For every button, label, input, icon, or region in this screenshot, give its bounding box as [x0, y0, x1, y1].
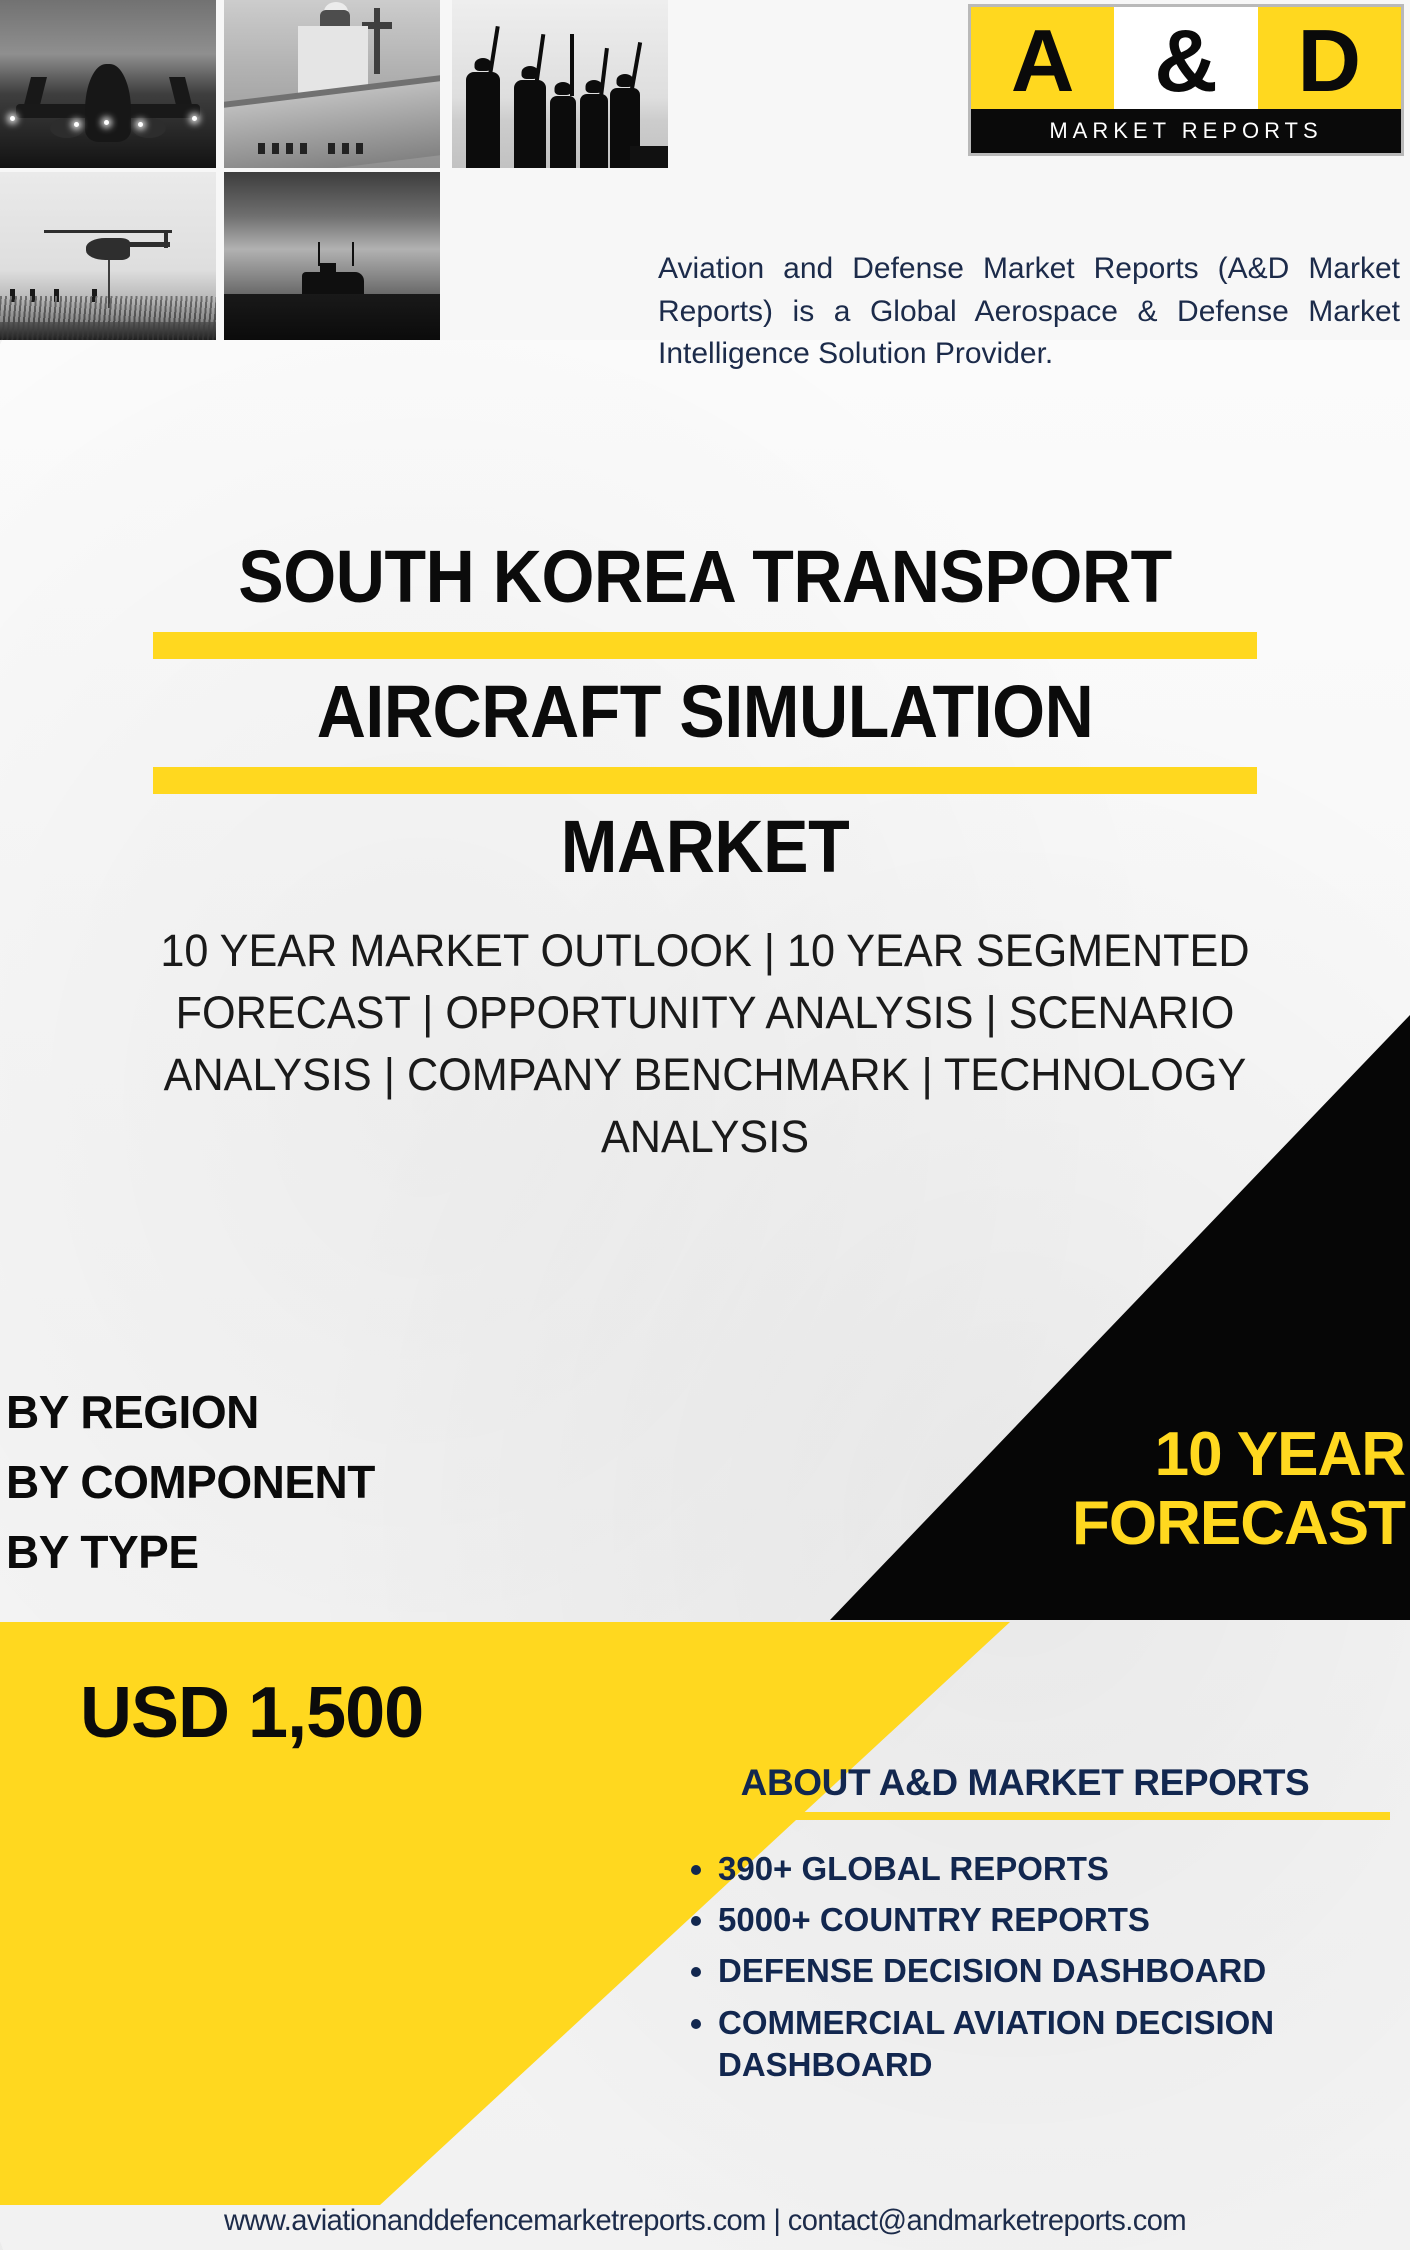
report-title-line-3: MARKET: [56, 810, 1353, 884]
forecast-badge: 10 YEAR FORECAST: [860, 1420, 1405, 1559]
header-photo-grid: [0, 0, 668, 340]
armored-vehicle-at-dusk-photo: [224, 172, 440, 340]
carrier-porthole: [258, 143, 265, 154]
logo-ampersand: &: [1114, 7, 1257, 115]
soldier-silhouette: [514, 80, 546, 168]
title-divider-bar-2: [153, 767, 1257, 794]
report-title-line-1: SOUTH KOREA TRANSPORT: [56, 540, 1353, 614]
deck-light: [74, 122, 79, 127]
title-divider-bar-1: [153, 632, 1257, 659]
jet-pod-left: [50, 118, 84, 138]
soldier-silhouette: [580, 94, 608, 168]
carrier-porthole: [300, 143, 307, 154]
carrier-porthole: [356, 143, 363, 154]
soldier-silhouette: [466, 72, 500, 168]
deck-light: [192, 116, 197, 121]
shoreline-rocks: [630, 146, 668, 168]
jet-pod-right: [132, 118, 166, 138]
aircraft-carrier-photo: [224, 0, 440, 168]
soldier-helmet: [555, 82, 572, 95]
vehicle-antenna: [352, 242, 354, 266]
field-grass: [0, 296, 216, 340]
segment-by-component: BY COMPONENT: [6, 1448, 626, 1518]
forecast-line-2: FORECAST: [860, 1489, 1405, 1558]
segment-by-type: BY TYPE: [6, 1518, 626, 1588]
price-label: USD 1,500: [80, 1672, 423, 1754]
jet-fuselage: [85, 64, 131, 142]
carrier-porthole: [328, 143, 335, 154]
logo-tagline: MARKET REPORTS: [971, 109, 1401, 153]
logo-letters: A & D: [971, 7, 1401, 115]
logo-letter-d: D: [1258, 7, 1401, 115]
about-heading-underline: [660, 1812, 1390, 1820]
carrier-porthole: [272, 143, 279, 154]
about-bullet-item: 5000+ COUNTRY REPORTS: [718, 1899, 1390, 1941]
about-bullet-item: 390+ GLOBAL REPORTS: [718, 1848, 1390, 1890]
deck-light: [138, 122, 143, 127]
report-title-block: SOUTH KOREA TRANSPORT AIRCRAFT SIMULATIO…: [0, 540, 1410, 884]
segmentation-list: BY REGION BY COMPONENT BY TYPE: [6, 1378, 626, 1588]
about-section: ABOUT A&D MARKET REPORTS 390+ GLOBAL REP…: [660, 1762, 1390, 2095]
about-bullet-list: 390+ GLOBAL REPORTS 5000+ COUNTRY REPORT…: [660, 1848, 1390, 2086]
soldier-rifle: [570, 34, 574, 96]
about-heading: ABOUT A&D MARKET REPORTS: [660, 1762, 1390, 1804]
poster-canvas: A & D MARKET REPORTS Aviation and Defens…: [0, 0, 1410, 2250]
soldier-rifle: [488, 26, 499, 74]
carrier-porthole: [286, 143, 293, 154]
about-bullet-item: DEFENSE DECISION DASHBOARD: [718, 1950, 1390, 1992]
company-intro-paragraph: Aviation and Defense Market Reports (A&D…: [658, 248, 1400, 376]
report-title-line-2: AIRCRAFT SIMULATION: [56, 675, 1353, 749]
deck-light: [10, 116, 15, 121]
fighter-jet-on-carrier-deck-photo: [0, 0, 216, 168]
helicopter-main-rotor: [44, 230, 172, 233]
soldier-rifle: [535, 34, 546, 82]
soldier-silhouette: [550, 96, 576, 168]
soldier-rifle: [630, 42, 642, 90]
forecast-line-1: 10 YEAR: [860, 1420, 1405, 1489]
helicopter-tail-fin: [164, 230, 168, 248]
footer-contact[interactable]: www.aviationanddefencemarketreports.com …: [21, 2204, 1389, 2238]
deck-light: [104, 120, 109, 125]
soldier-rifle: [599, 48, 609, 96]
carrier-mast: [374, 8, 380, 74]
carrier-porthole: [342, 143, 349, 154]
logo-letter-a: A: [971, 7, 1114, 115]
brand-logo[interactable]: A & D MARKET REPORTS: [968, 4, 1404, 156]
about-bullet-item: COMMERCIAL AVIATION DECISION DASHBOARD: [718, 2002, 1390, 2086]
helicopter-over-field-photo: [0, 172, 216, 340]
vehicle-ground: [224, 294, 440, 340]
segment-by-region: BY REGION: [6, 1378, 626, 1448]
report-subtitle: 10 YEAR MARKET OUTLOOK | 10 YEAR SEGMENT…: [76, 920, 1334, 1168]
soldiers-silhouette-photo: [452, 0, 668, 168]
